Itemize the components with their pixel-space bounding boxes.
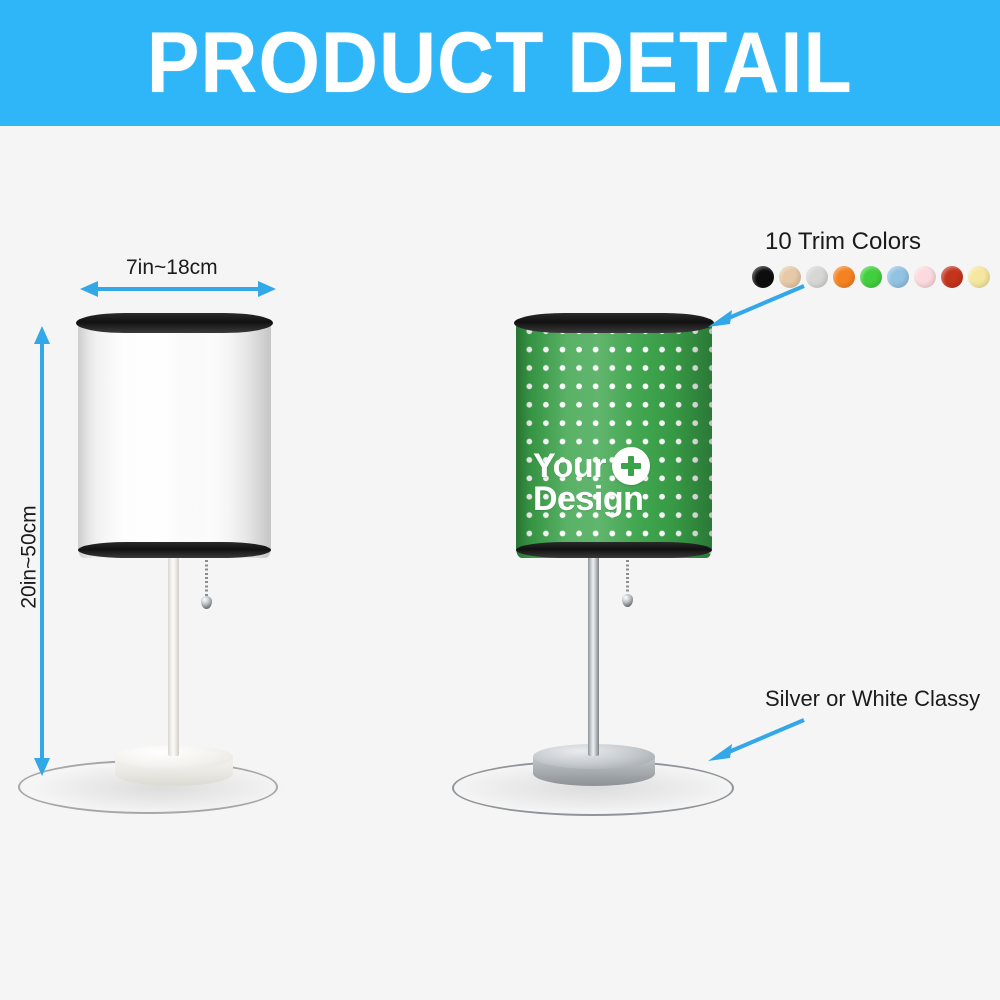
shade-trim-bottom-right — [516, 542, 712, 558]
shade-trim-top-right — [514, 313, 714, 333]
lamp-stem-left — [168, 556, 179, 756]
trim-swatch-dark-red[interactable] — [941, 266, 963, 288]
lamp-shade-green — [516, 318, 712, 558]
shade-trim-bottom-left — [78, 542, 271, 558]
trim-swatch-pink[interactable] — [914, 266, 936, 288]
pull-chain-knob-left — [201, 596, 212, 609]
shade-highlight-white — [78, 318, 271, 558]
product-detail-page: PRODUCT DETAIL 7in~18cm — [0, 0, 1000, 1000]
shade-highlight-green — [516, 318, 712, 558]
trim-swatch-orange[interactable] — [833, 266, 855, 288]
pull-chain-right — [626, 556, 629, 598]
trim-colors-arrow — [700, 282, 810, 330]
lamp-custom-green: Your Design — [430, 0, 770, 1000]
width-dimension-label: 7in~18cm — [126, 256, 218, 280]
trim-swatch-light-blue[interactable] — [887, 266, 909, 288]
trim-swatch-green[interactable] — [860, 266, 882, 288]
pull-chain-knob-right — [622, 594, 633, 607]
shade-trim-top-left — [76, 313, 273, 333]
lamp-stem-right — [588, 556, 599, 756]
base-finish-arrow — [700, 716, 810, 766]
base-finish-label: Silver or White Classy — [765, 686, 980, 712]
pull-chain-left — [205, 556, 208, 600]
trim-swatch-yellow[interactable] — [968, 266, 990, 288]
trim-colors-label: 10 Trim Colors — [765, 228, 921, 256]
height-dimension-label: 20in~50cm — [18, 505, 42, 608]
width-dimension-arrow — [80, 278, 276, 300]
lamp-shade-white — [78, 318, 271, 558]
